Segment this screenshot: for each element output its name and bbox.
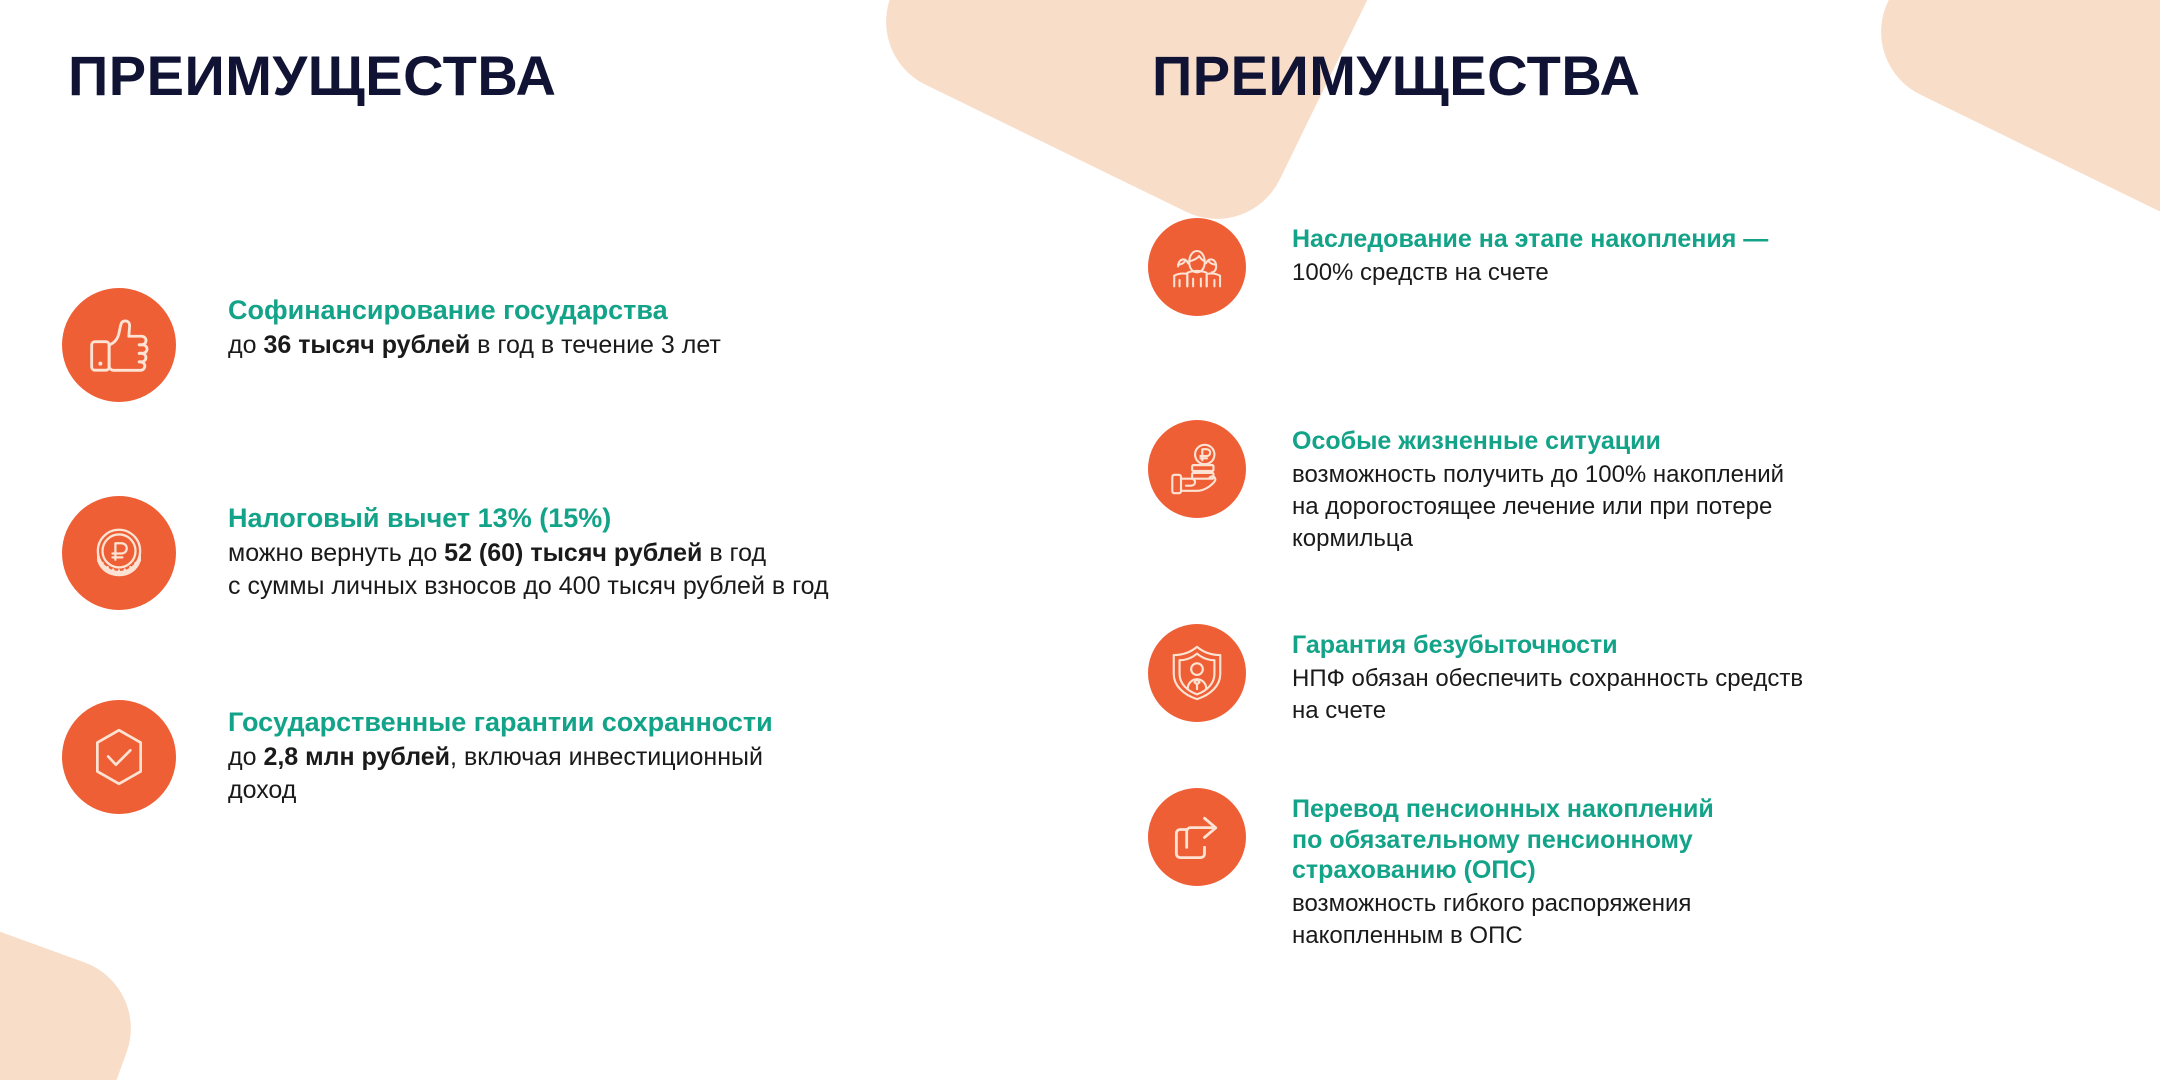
transfer-arrow-icon [1148, 788, 1246, 886]
list-item-description: возможность получить до 100% накопленийн… [1292, 459, 1784, 555]
list-item-description: возможность гибкого распоряжениянакоплен… [1292, 888, 1714, 952]
thumbs-up-icon [62, 288, 176, 402]
shield-person-icon [1148, 624, 1246, 722]
list-item[interactable]: Софинансирование государства до 36 тысяч… [62, 288, 721, 402]
list-item-text: Особые жизненные ситуации возможность по… [1292, 420, 1784, 555]
list-item[interactable]: Налоговый вычет 13% (15%) можно вернуть … [62, 496, 829, 610]
list-item-description: до 36 тысяч рублей в год в течение 3 лет [228, 329, 721, 363]
list-item-title: Софинансирование государства [228, 294, 721, 327]
page-title-right: ПРЕИМУЩЕСТВА [1152, 48, 1640, 104]
ruble-coin-icon [62, 496, 176, 610]
right-panel: ПРЕИМУЩЕСТВА [1080, 0, 2160, 1080]
list-item-text: Налоговый вычет 13% (15%) можно вернуть … [228, 496, 829, 604]
list-item-title: Особые жизненные ситуации [1292, 426, 1784, 457]
hand-with-coins-icon [1148, 420, 1246, 518]
list-item[interactable]: Перевод пенсионных накопленийпо обязател… [1148, 788, 1714, 952]
list-item-text: Гарантия безубыточности НПФ обязан обесп… [1292, 624, 1803, 727]
list-item[interactable]: Наследование на этапе накопления — 100% … [1148, 218, 1768, 316]
left-panel: ПРЕИМУЩЕСТВА Софинансирование [0, 0, 1080, 1080]
slide-root: ПРЕИМУЩЕСТВА Софинансирование [0, 0, 2160, 1080]
list-item-description: до 2,8 млн рублей, включая инвестиционны… [228, 741, 773, 808]
family-group-icon [1148, 218, 1246, 316]
list-item-title: Государственные гарантии сохранности [228, 706, 773, 739]
list-item[interactable]: Особые жизненные ситуации возможность по… [1148, 420, 1784, 555]
list-item[interactable]: Государственные гарантии сохранности до … [62, 700, 773, 814]
hexagon-check-icon [62, 700, 176, 814]
list-item-text: Софинансирование государства до 36 тысяч… [228, 288, 721, 362]
list-item-title: Налоговый вычет 13% (15%) [228, 502, 829, 535]
list-item[interactable]: Гарантия безубыточности НПФ обязан обесп… [1148, 624, 1803, 727]
list-item-description: можно вернуть до 52 (60) тысяч рублей в … [228, 537, 829, 604]
list-item-title: Перевод пенсионных накопленийпо обязател… [1292, 794, 1714, 886]
list-item-text: Наследование на этапе накопления — 100% … [1292, 218, 1768, 289]
list-item-description: НПФ обязан обеспечить сохранность средст… [1292, 663, 1803, 727]
list-item-text: Перевод пенсионных накопленийпо обязател… [1292, 788, 1714, 952]
list-item-title: Гарантия безубыточности [1292, 630, 1803, 661]
list-item-description: 100% средств на счете [1292, 257, 1768, 289]
list-item-text: Государственные гарантии сохранности до … [228, 700, 773, 808]
list-item-title: Наследование на этапе накопления — [1292, 224, 1768, 255]
page-title-left: ПРЕИМУЩЕСТВА [68, 48, 556, 104]
